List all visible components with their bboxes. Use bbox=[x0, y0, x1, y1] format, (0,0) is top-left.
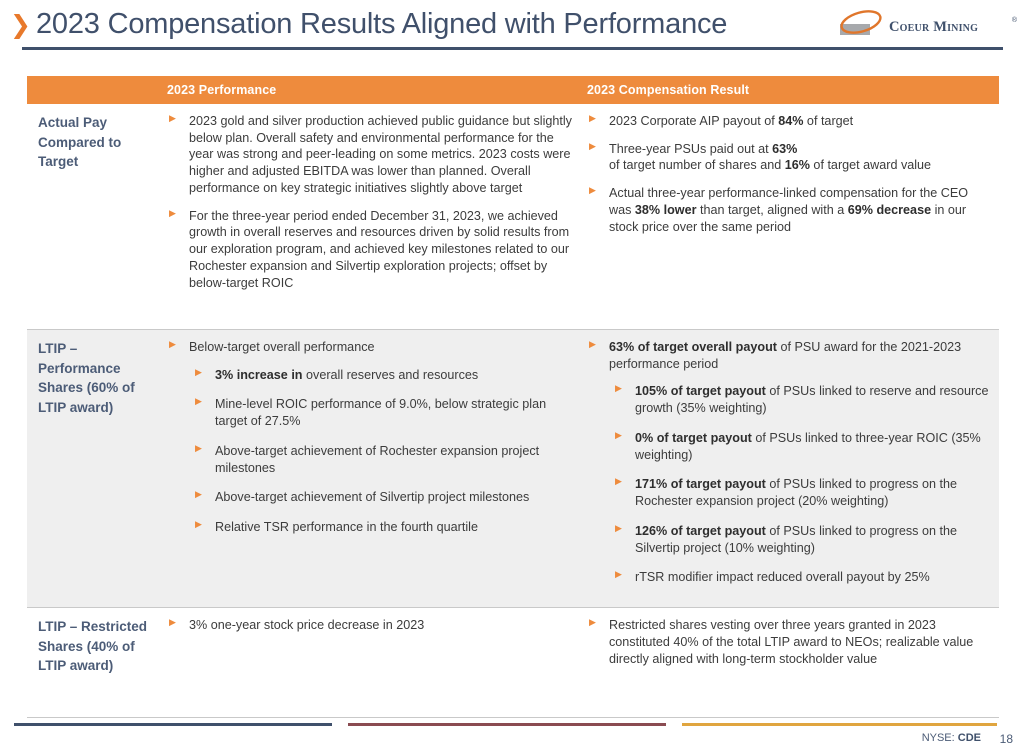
bullet-item: 2023 Corporate AIP payout of 84% of targ… bbox=[587, 113, 989, 130]
bullet-item: 171% of target payout of PSUs linked to … bbox=[613, 476, 989, 509]
performance-cell: 2023 gold and silver production achieved… bbox=[167, 104, 587, 330]
column-header-result: 2023 Compensation Result bbox=[587, 83, 999, 97]
slide-footer: NYSE: CDE 18 bbox=[0, 707, 1025, 751]
header-divider bbox=[22, 47, 1003, 50]
page-number: 18 bbox=[1000, 732, 1013, 746]
ticker-label: NYSE: CDE bbox=[922, 732, 981, 744]
row-label: Actual Pay Compared to Target bbox=[38, 113, 159, 172]
bullet-list: 63% of target overall payout of PSU awar… bbox=[587, 339, 989, 372]
company-logo: Coeur Mining ® bbox=[839, 8, 1017, 42]
coeur-mining-logo-icon bbox=[839, 10, 885, 38]
row-label-cell: LTIP – Performance Shares (60% of LTIP a… bbox=[27, 330, 167, 608]
row-label: LTIP – Performance Shares (60% of LTIP a… bbox=[38, 339, 159, 417]
row-label: LTIP – Restricted Shares (40% of LTIP aw… bbox=[38, 617, 159, 676]
footer-line-maroon bbox=[348, 723, 666, 726]
bullet-item: 3% increase in overall reserves and reso… bbox=[193, 367, 573, 384]
page-title: 2023 Compensation Results Aligned with P… bbox=[36, 8, 727, 41]
column-header-performance: 2023 Performance bbox=[167, 83, 587, 97]
chevron-right-icon: ❯ bbox=[10, 12, 31, 37]
bullet-item: 3% one-year stock price decrease in 2023 bbox=[167, 617, 573, 634]
performance-cell: 3% one-year stock price decrease in 2023 bbox=[167, 608, 587, 718]
bullet-item: Mine-level ROIC performance of 9.0%, bel… bbox=[193, 396, 573, 429]
table-row: LTIP – Restricted Shares (40% of LTIP aw… bbox=[27, 608, 999, 718]
bullet-item: 126% of target payout of PSUs linked to … bbox=[613, 523, 989, 556]
row-label-cell: LTIP – Restricted Shares (40% of LTIP aw… bbox=[27, 608, 167, 718]
bullet-item: 0% of target payout of PSUs linked to th… bbox=[613, 430, 989, 463]
logo-wordmark: Coeur Mining bbox=[889, 19, 978, 36]
bullet-item: For the three-year period ended December… bbox=[167, 208, 573, 292]
bullet-item: Above-target achievement of Rochester ex… bbox=[193, 443, 573, 476]
bullet-item: Actual three-year performance-linked com… bbox=[587, 185, 989, 235]
ticker-symbol: CDE bbox=[958, 732, 981, 744]
footer-line-navy bbox=[14, 723, 332, 726]
bullet-list: 105% of target payout of PSUs linked to … bbox=[587, 383, 989, 586]
result-cell: Restricted shares vesting over three yea… bbox=[587, 608, 999, 718]
ticker-prefix: NYSE: bbox=[922, 732, 958, 744]
bullet-item: Below-target overall performance bbox=[167, 339, 573, 356]
bullet-item: Restricted shares vesting over three yea… bbox=[587, 617, 989, 667]
table-header-row: 2023 Performance 2023 Compensation Resul… bbox=[27, 76, 999, 104]
bullet-item: Above-target achievement of Silvertip pr… bbox=[193, 489, 573, 506]
bullet-item: Relative TSR performance in the fourth q… bbox=[193, 519, 573, 536]
bullet-item: 63% of target overall payout of PSU awar… bbox=[587, 339, 989, 372]
bullet-list: 2023 Corporate AIP payout of 84% of targ… bbox=[587, 113, 989, 235]
bullet-item: 2023 gold and silver production achieved… bbox=[167, 113, 573, 197]
table-row: LTIP – Performance Shares (60% of LTIP a… bbox=[27, 330, 999, 608]
row-label-cell: Actual Pay Compared to Target bbox=[27, 104, 167, 330]
registered-trademark-icon: ® bbox=[1012, 17, 1017, 24]
slide: ❯ 2023 Compensation Results Aligned with… bbox=[0, 0, 1025, 751]
table-row: Actual Pay Compared to Target2023 gold a… bbox=[27, 104, 999, 330]
bullet-item: Three-year PSUs paid out at 63%of target… bbox=[587, 141, 989, 174]
result-cell: 2023 Corporate AIP payout of 84% of targ… bbox=[587, 104, 999, 330]
bullet-list: 3% increase in overall reserves and reso… bbox=[167, 367, 573, 536]
bullet-item: 105% of target payout of PSUs linked to … bbox=[613, 383, 989, 416]
bullet-list: Restricted shares vesting over three yea… bbox=[587, 617, 989, 667]
bullet-list: Below-target overall performance bbox=[167, 339, 573, 356]
footer-line-gold bbox=[682, 723, 997, 726]
performance-cell: Below-target overall performance3% incre… bbox=[167, 330, 587, 608]
bullet-list: 2023 gold and silver production achieved… bbox=[167, 113, 573, 291]
bullet-list: 3% one-year stock price decrease in 2023 bbox=[167, 617, 573, 634]
bullet-item: rTSR modifier impact reduced overall pay… bbox=[613, 569, 989, 586]
compensation-results-table: 2023 Performance 2023 Compensation Resul… bbox=[27, 76, 999, 718]
result-cell: 63% of target overall payout of PSU awar… bbox=[587, 330, 999, 608]
